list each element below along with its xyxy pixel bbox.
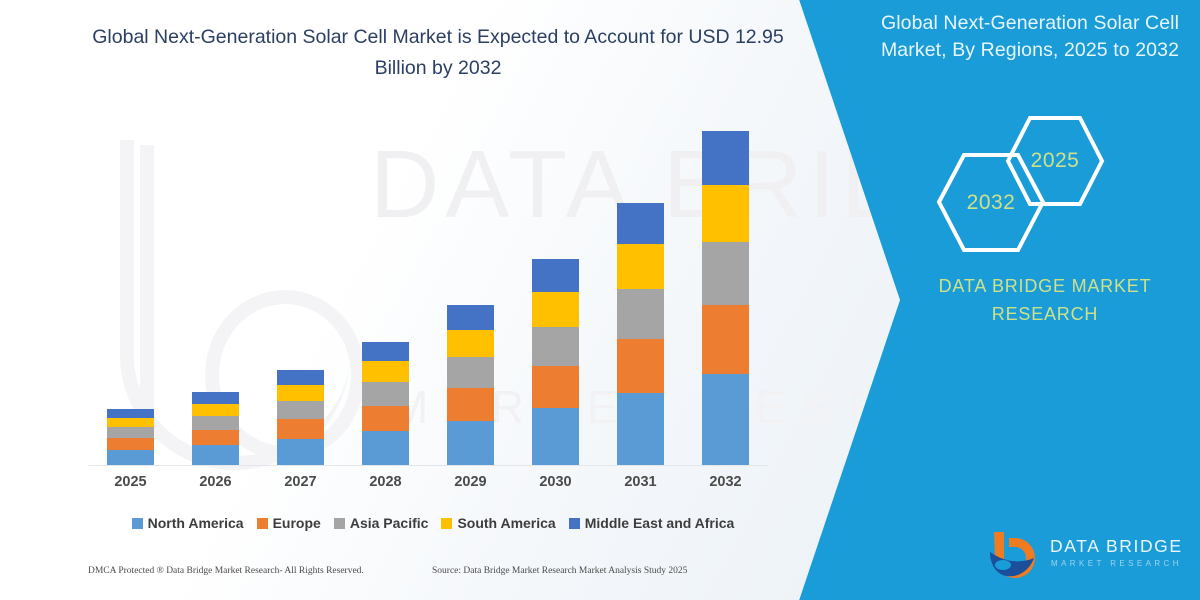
dbmr-logo-mark-icon — [988, 530, 1042, 578]
bar-segment[interactable] — [617, 203, 664, 244]
footer: DMCA Protected ® Data Bridge Market Rese… — [0, 566, 800, 588]
chart-baseline — [88, 465, 768, 466]
x-axis-label-2026: 2026 — [181, 474, 251, 490]
bar-segment[interactable] — [532, 366, 579, 408]
bar-segment[interactable] — [277, 401, 324, 419]
dbmr-logo-name: DATA BRIDGE — [1050, 536, 1183, 557]
bar-segment[interactable] — [702, 374, 749, 466]
bar-2031[interactable] — [617, 203, 664, 465]
bar-segment[interactable] — [107, 418, 154, 428]
chart-legend: North AmericaEuropeAsia PacificSouth Ame… — [88, 512, 778, 534]
bar-segment[interactable] — [192, 416, 239, 430]
bar-segment[interactable] — [532, 259, 579, 291]
bar-segment[interactable] — [702, 242, 749, 306]
x-axis-label-2028: 2028 — [351, 474, 421, 490]
bar-2028[interactable] — [362, 342, 409, 465]
bar-segment[interactable] — [617, 244, 664, 289]
bar-segment[interactable] — [447, 330, 494, 357]
panel-brand-text: DATA BRIDGE MARKET RESEARCH — [905, 272, 1185, 328]
footer-source: Source: Data Bridge Market Research Mark… — [432, 566, 687, 576]
footer-copyright: DMCA Protected ® Data Bridge Market Rese… — [88, 566, 364, 576]
legend-swatch-icon — [334, 518, 345, 529]
bar-segment[interactable] — [107, 409, 154, 418]
bar-segment[interactable] — [362, 431, 409, 465]
bar-segment[interactable] — [277, 419, 324, 439]
bar-segment[interactable] — [532, 292, 579, 327]
legend-label: North America — [148, 515, 244, 531]
bar-segment[interactable] — [192, 430, 239, 445]
bar-segment[interactable] — [107, 427, 154, 438]
bar-segment[interactable] — [447, 357, 494, 388]
legend-item-europe[interactable]: Europe — [257, 515, 321, 531]
bar-segment[interactable] — [107, 450, 154, 465]
bar-segment[interactable] — [617, 393, 664, 465]
bar-segment[interactable] — [702, 131, 749, 185]
bar-segment[interactable] — [362, 406, 409, 431]
bar-segment[interactable] — [192, 445, 239, 465]
bar-segment[interactable] — [617, 289, 664, 339]
x-axis-label-2030: 2030 — [521, 474, 591, 490]
bar-segment[interactable] — [362, 361, 409, 382]
bar-segment[interactable] — [277, 370, 324, 385]
legend-swatch-icon — [441, 518, 452, 529]
chart-x-axis: 20252026202720282029203020312032 — [88, 474, 768, 494]
legend-item-north-america[interactable]: North America — [132, 515, 244, 531]
legend-swatch-icon — [569, 518, 580, 529]
bar-2029[interactable] — [447, 305, 494, 465]
bar-segment[interactable] — [617, 339, 664, 393]
legend-label: Europe — [273, 515, 321, 531]
bar-segment[interactable] — [532, 327, 579, 366]
dbmr-logo: DATA BRIDGE MARKET RESEARCH — [988, 528, 1188, 580]
bar-segment[interactable] — [277, 439, 324, 465]
legend-label: Asia Pacific — [350, 515, 429, 531]
bar-segment[interactable] — [192, 404, 239, 416]
x-axis-label-2025: 2025 — [96, 474, 166, 490]
legend-swatch-icon — [257, 518, 268, 529]
infographic-root: DATA BRIDGE MARKET RESEARCH Global Next-… — [0, 0, 1200, 600]
bar-segment[interactable] — [107, 438, 154, 450]
bar-segment[interactable] — [362, 382, 409, 406]
x-axis-label-2031: 2031 — [606, 474, 676, 490]
bar-2026[interactable] — [192, 392, 239, 465]
bar-segment[interactable] — [192, 392, 239, 403]
legend-item-south-america[interactable]: South America — [441, 515, 555, 531]
bar-segment[interactable] — [702, 185, 749, 241]
page-title: Global Next-Generation Solar Cell Market… — [88, 22, 788, 84]
bar-2032[interactable] — [702, 131, 749, 465]
legend-swatch-icon — [132, 518, 143, 529]
legend-item-middle-east-and-africa[interactable]: Middle East and Africa — [569, 515, 735, 531]
bar-segment[interactable] — [447, 388, 494, 421]
x-axis-label-2027: 2027 — [266, 474, 336, 490]
bar-segment[interactable] — [277, 385, 324, 401]
x-axis-label-2032: 2032 — [691, 474, 761, 490]
legend-item-asia-pacific[interactable]: Asia Pacific — [334, 515, 429, 531]
hexagon-badge-2032: 2032 — [936, 152, 1046, 253]
x-axis-label-2029: 2029 — [436, 474, 506, 490]
chart-plot-area — [88, 118, 768, 466]
bar-2027[interactable] — [277, 370, 324, 465]
panel-title: Global Next-Generation Solar Cell Market… — [868, 10, 1192, 64]
dbmr-logo-subtitle: MARKET RESEARCH — [1051, 559, 1182, 568]
hexagon-label-2032: 2032 — [967, 191, 1016, 215]
bar-2030[interactable] — [532, 259, 579, 465]
bar-2025[interactable] — [107, 409, 154, 465]
bar-segment[interactable] — [447, 421, 494, 465]
bar-segment[interactable] — [362, 342, 409, 361]
legend-label: South America — [457, 515, 555, 531]
bar-segment[interactable] — [447, 305, 494, 330]
legend-label: Middle East and Africa — [585, 515, 735, 531]
bar-segment[interactable] — [532, 408, 579, 465]
bar-segment[interactable] — [702, 305, 749, 373]
